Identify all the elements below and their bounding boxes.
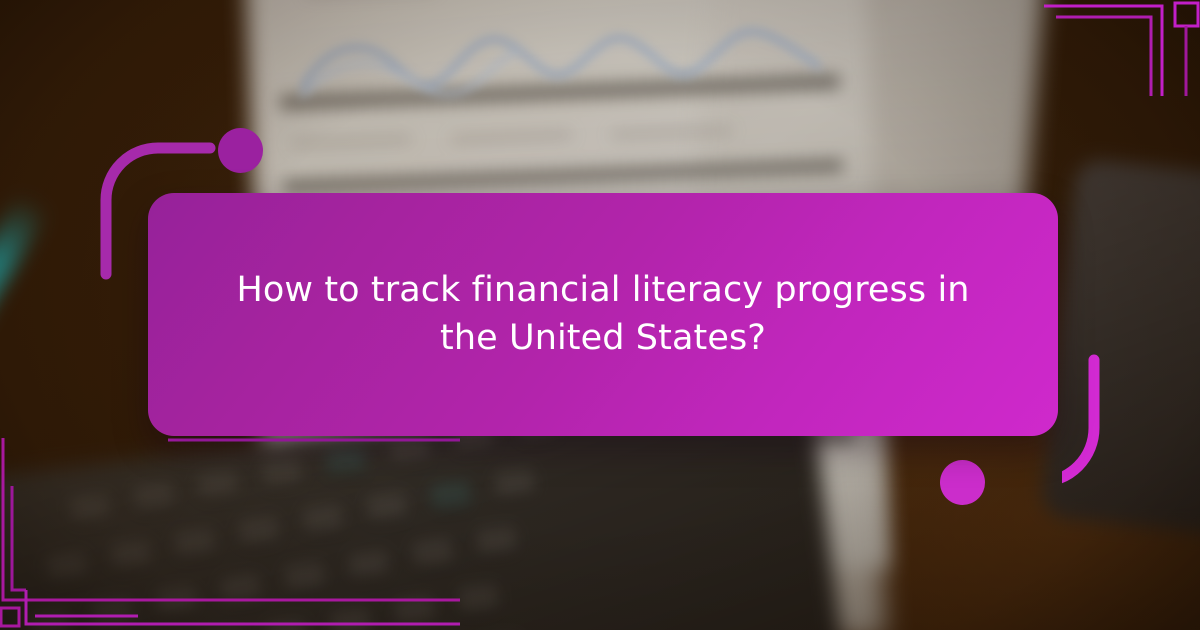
page-title: How to track financial literacy progress… (218, 267, 988, 362)
social-card-canvas: How to track financial literacy progress… (0, 0, 1200, 630)
title-card: How to track financial literacy progress… (148, 193, 1058, 436)
accent-dot-bottom-right (940, 460, 985, 505)
accent-dot-top-left (218, 128, 263, 173)
